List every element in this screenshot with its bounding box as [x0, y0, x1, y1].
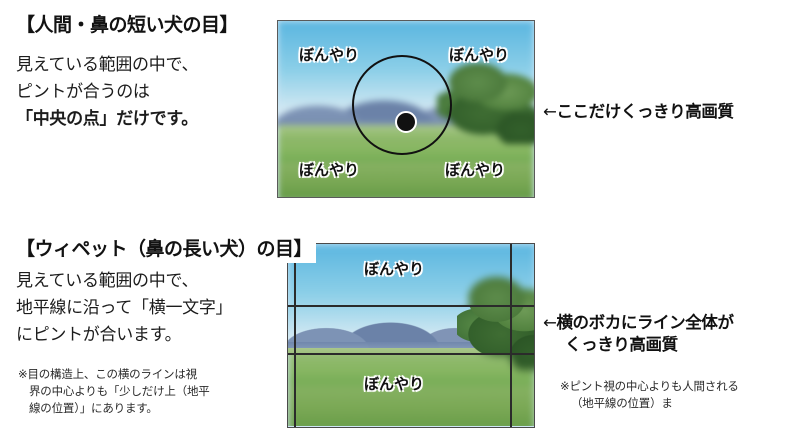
- panel2-sharp-focus-band: [288, 305, 534, 355]
- section2-body-line-3: にピントが合います。: [16, 322, 232, 349]
- field-near-sharp: [352, 68, 452, 107]
- focus-circle-sharp-scene: [352, 55, 452, 155]
- section2-body-line-2: 地平線に沿って「横一文字」: [16, 295, 232, 322]
- section1-callout: ←ここだけくっきり高画質: [543, 101, 734, 123]
- panel2-scene-sharp: [288, 305, 534, 355]
- infographic-canvas: ぼんやり ぼんやり ぼんやり ぼんやり: [0, 0, 800, 436]
- section1-body: 見えている範囲の中で、 ピントが合うのは 「中央の点」だけです。: [16, 52, 198, 133]
- section1-title: 【人間・鼻の短い犬の目】: [12, 8, 242, 39]
- section2-note-line-1: 目の構造上、この横のラインは視: [27, 367, 197, 381]
- section2-body-line-1: 見えている範囲の中で、: [16, 268, 232, 295]
- field-mid-sharp: [352, 55, 452, 68]
- section1-callout-text: ここだけくっきり高画質: [556, 102, 733, 121]
- tree: [457, 277, 534, 305]
- section2-note-line-2: 界の中心よりも「少しだけ上（地平: [18, 383, 268, 400]
- focus-circle: [352, 55, 452, 155]
- section2-title: 【ウィペット（鼻の長い犬）の目】: [12, 232, 316, 263]
- blur-label-bottom-left: ぼんやり: [299, 159, 359, 180]
- section2-callout: ←横のボカにライン全体が くっきり高画質: [543, 312, 734, 356]
- blur-label-top-right: ぼんやり: [449, 44, 509, 65]
- section2-callout-line-1: 横のボカにライン全体が: [556, 313, 733, 332]
- section1-body-line-2: ピントが合うのは: [16, 79, 198, 106]
- blur-label-upper: ぼんやり: [364, 258, 424, 279]
- blur-label-top-left: ぼんやり: [299, 44, 359, 65]
- vertical-guide-left: [294, 244, 296, 427]
- section2-note-line-3: 線の位置）」にあります。: [18, 400, 268, 417]
- blur-label-bottom-right: ぼんやり: [445, 159, 505, 180]
- section1-body-line-3-text: 「中央の点」だけです。: [16, 109, 198, 129]
- footnote-line-1: ピント視の中心よりも人間される: [569, 379, 738, 393]
- arrow-left-icon: ←: [543, 313, 556, 332]
- blur-label-lower: ぼんやり: [364, 373, 424, 394]
- footnote: ※ピント視の中心よりも人間される （地平線の位置）ま: [560, 378, 796, 412]
- footnote-line-2: （地平線の位置）ま: [560, 395, 796, 412]
- section1-body-line-3: 「中央の点」だけです。: [16, 106, 198, 133]
- center-focus-dot: [395, 111, 417, 133]
- panel2-landscape-image: ぼんやり ぼんやり: [287, 243, 535, 428]
- vertical-guide-right: [510, 244, 512, 427]
- section2-note: ※目の構造上、この横のラインは視 界の中心よりも「少しだけ上（地平 線の位置）」…: [18, 366, 268, 417]
- section1-body-line-1: 見えている範囲の中で、: [16, 52, 198, 79]
- section2-callout-line-2: くっきり高画質: [543, 334, 734, 356]
- tree-sharp: [352, 107, 382, 155]
- panel1-overlay: ぼんやり ぼんやり ぼんやり ぼんやり: [277, 20, 535, 198]
- arrow-left-icon: ←: [543, 102, 556, 121]
- section2-body: 見えている範囲の中で、 地平線に沿って「横一文字」 にピントが合います。: [16, 268, 232, 349]
